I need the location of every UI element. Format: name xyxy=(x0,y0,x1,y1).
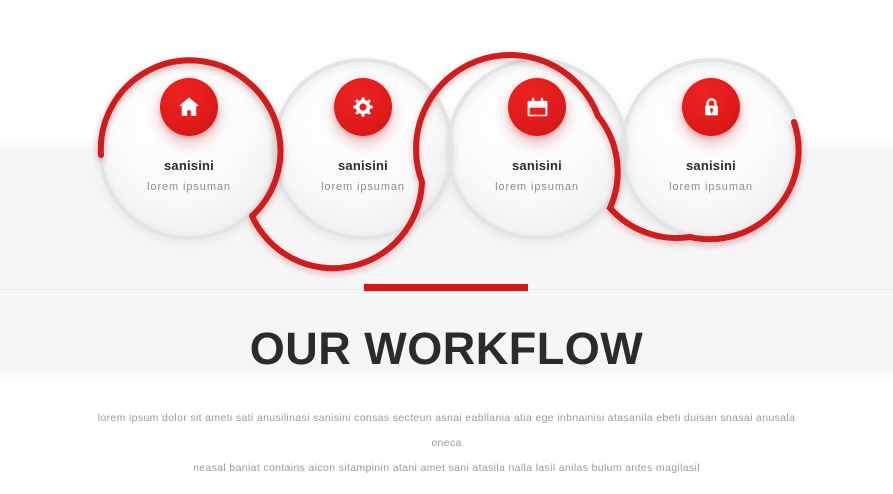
gear-icon[interactable] xyxy=(334,78,392,136)
body-paragraph: lorem ipsum dolor sit ameti sati anusili… xyxy=(96,406,797,481)
workflow-step-3[interactable]: sanisini lorem ipsuman xyxy=(447,59,627,239)
step-sublabel: lorem ipsuman xyxy=(447,181,627,193)
slide-canvas: sanisini lorem ipsuman sanisini lorem ip… xyxy=(0,0,893,494)
workflow-step-2[interactable]: sanisini lorem ipsuman xyxy=(273,59,453,239)
workflow-step-4[interactable]: sanisini lorem ipsuman xyxy=(621,59,801,239)
calendar-icon[interactable] xyxy=(508,78,566,136)
body-line-2: neasal baniat contains aicon sitampinin … xyxy=(96,456,797,481)
step-sublabel: lorem ipsuman xyxy=(273,181,453,193)
home-icon[interactable] xyxy=(160,78,218,136)
step-sublabel: lorem ipsuman xyxy=(621,181,801,193)
lock-icon[interactable] xyxy=(682,78,740,136)
step-label: sanisini xyxy=(273,158,453,173)
step-sublabel: lorem ipsuman xyxy=(99,181,279,193)
body-line-1: lorem ipsum dolor sit ameti sati anusili… xyxy=(96,406,797,456)
workflow-step-1[interactable]: sanisini lorem ipsuman xyxy=(99,59,279,239)
step-label: sanisini xyxy=(621,158,801,173)
page-title: OUR WORKFLOW xyxy=(0,323,893,375)
accent-bar xyxy=(364,284,528,291)
workflow-diagram: sanisini lorem ipsuman sanisini lorem ip… xyxy=(0,0,893,300)
step-label: sanisini xyxy=(99,158,279,173)
step-label: sanisini xyxy=(447,158,627,173)
